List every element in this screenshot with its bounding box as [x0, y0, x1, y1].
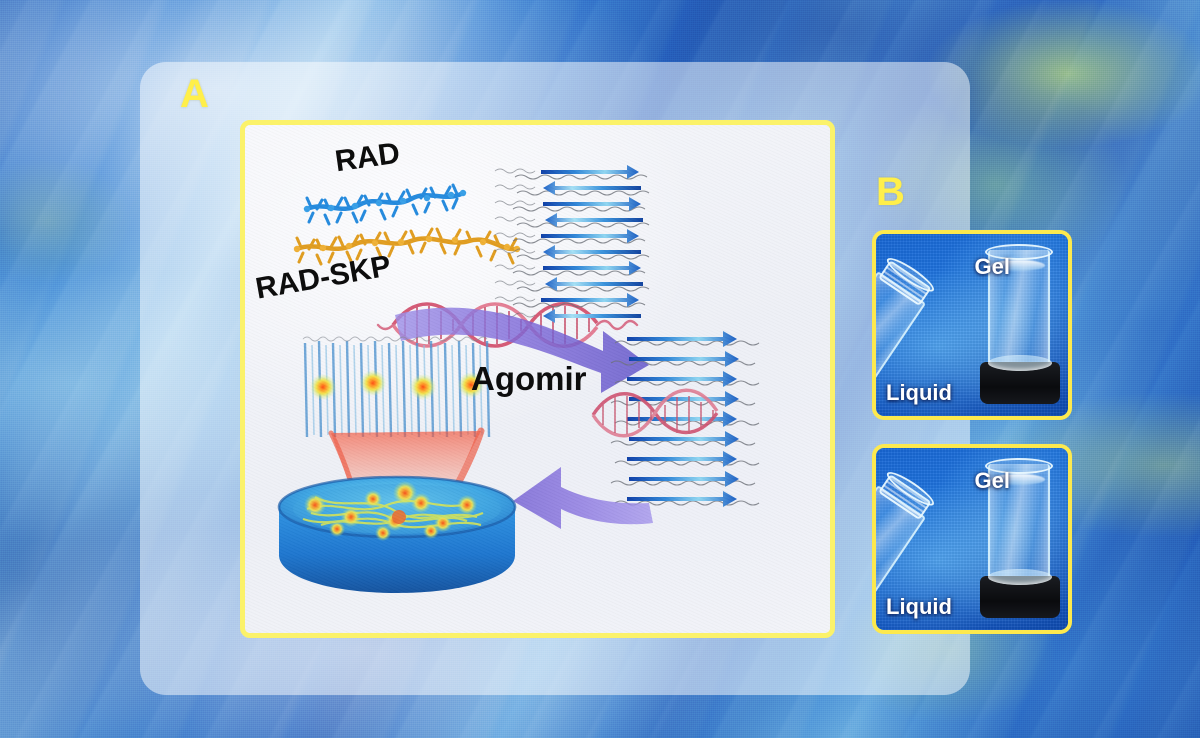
panel-b-image-bottom: Gel Liquid — [872, 444, 1072, 634]
panel-label-b: B — [876, 172, 905, 212]
label-agomir: Agomir — [471, 362, 587, 395]
label-liquid-bottom: Liquid — [886, 596, 952, 618]
label-gel-bottom: Gel — [975, 470, 1010, 492]
panel-label-a: A — [180, 74, 209, 114]
panel-b-image-top: Gel Liquid — [872, 230, 1072, 420]
panel-a: RAD RAD-SKP Agomir — [240, 120, 835, 638]
label-gel-top: Gel — [975, 256, 1010, 278]
figure-root: A B — [0, 0, 1200, 738]
vial-photo-bottom: Gel Liquid — [876, 448, 1068, 630]
label-liquid-top: Liquid — [886, 382, 952, 404]
vial-photo-top: Gel Liquid — [876, 234, 1068, 416]
